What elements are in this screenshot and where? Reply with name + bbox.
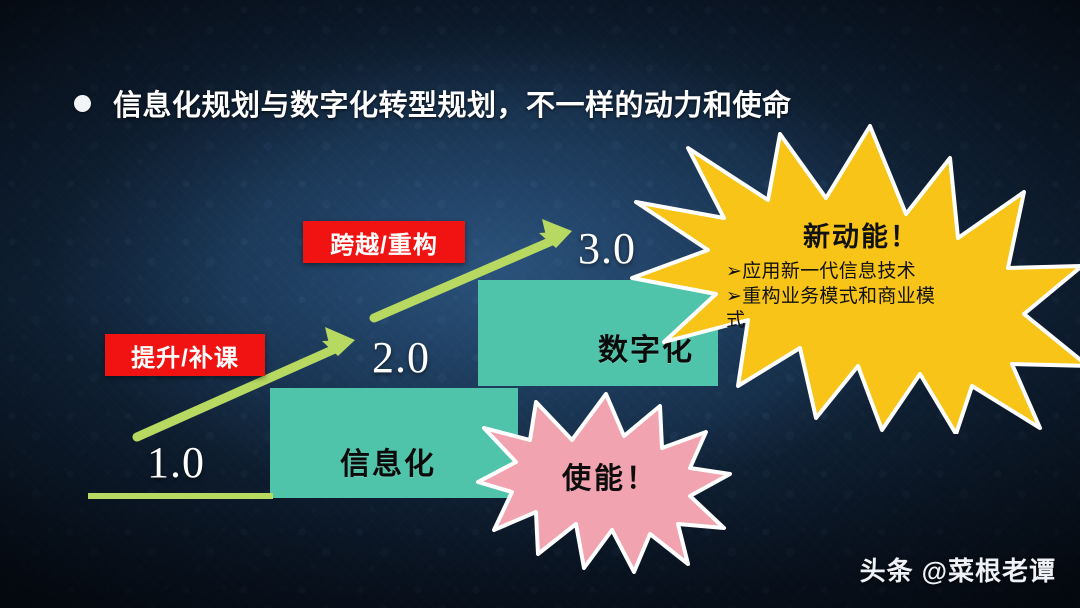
- watermark-handle: @菜根老谭: [922, 551, 1056, 588]
- starburst-pink-title: 使能！: [540, 455, 680, 497]
- tag-leap: 跨越/重构: [303, 221, 465, 263]
- starburst-yellow-content: 新动能！ ➢应用新一代信息技术 ➢重构业务模式和商业模 式: [726, 215, 996, 334]
- starburst-yellow-title: 新动能！: [726, 215, 996, 254]
- bullet-dot-icon: [74, 95, 91, 112]
- starburst-pink-content: 使能！: [540, 455, 680, 497]
- watermark-brand: 头条: [860, 551, 914, 588]
- slide-canvas: 信息化 数字化 1.0 2.0 3.0 提升/补课 跨越/重构 新动能！ ➢应用…: [0, 0, 1080, 608]
- starburst-yellow-bullet-3: 式: [726, 309, 996, 334]
- page-title-text: 信息化规划与数字化转型规划，不一样的动力和使命: [113, 82, 792, 124]
- starburst-yellow-bullet-2: ➢重构业务模式和商业模: [726, 285, 996, 310]
- version-label-1-0: 1.0: [147, 437, 205, 488]
- page-title: 信息化规划与数字化转型规划，不一样的动力和使命: [74, 82, 792, 124]
- watermark: 头条 @菜根老谭: [860, 551, 1056, 588]
- starburst-yellow-bullet-1: ➢应用新一代信息技术: [726, 260, 996, 285]
- tag-upgrade: 提升/补课: [105, 334, 265, 376]
- version-label-2-0: 2.0: [372, 332, 430, 383]
